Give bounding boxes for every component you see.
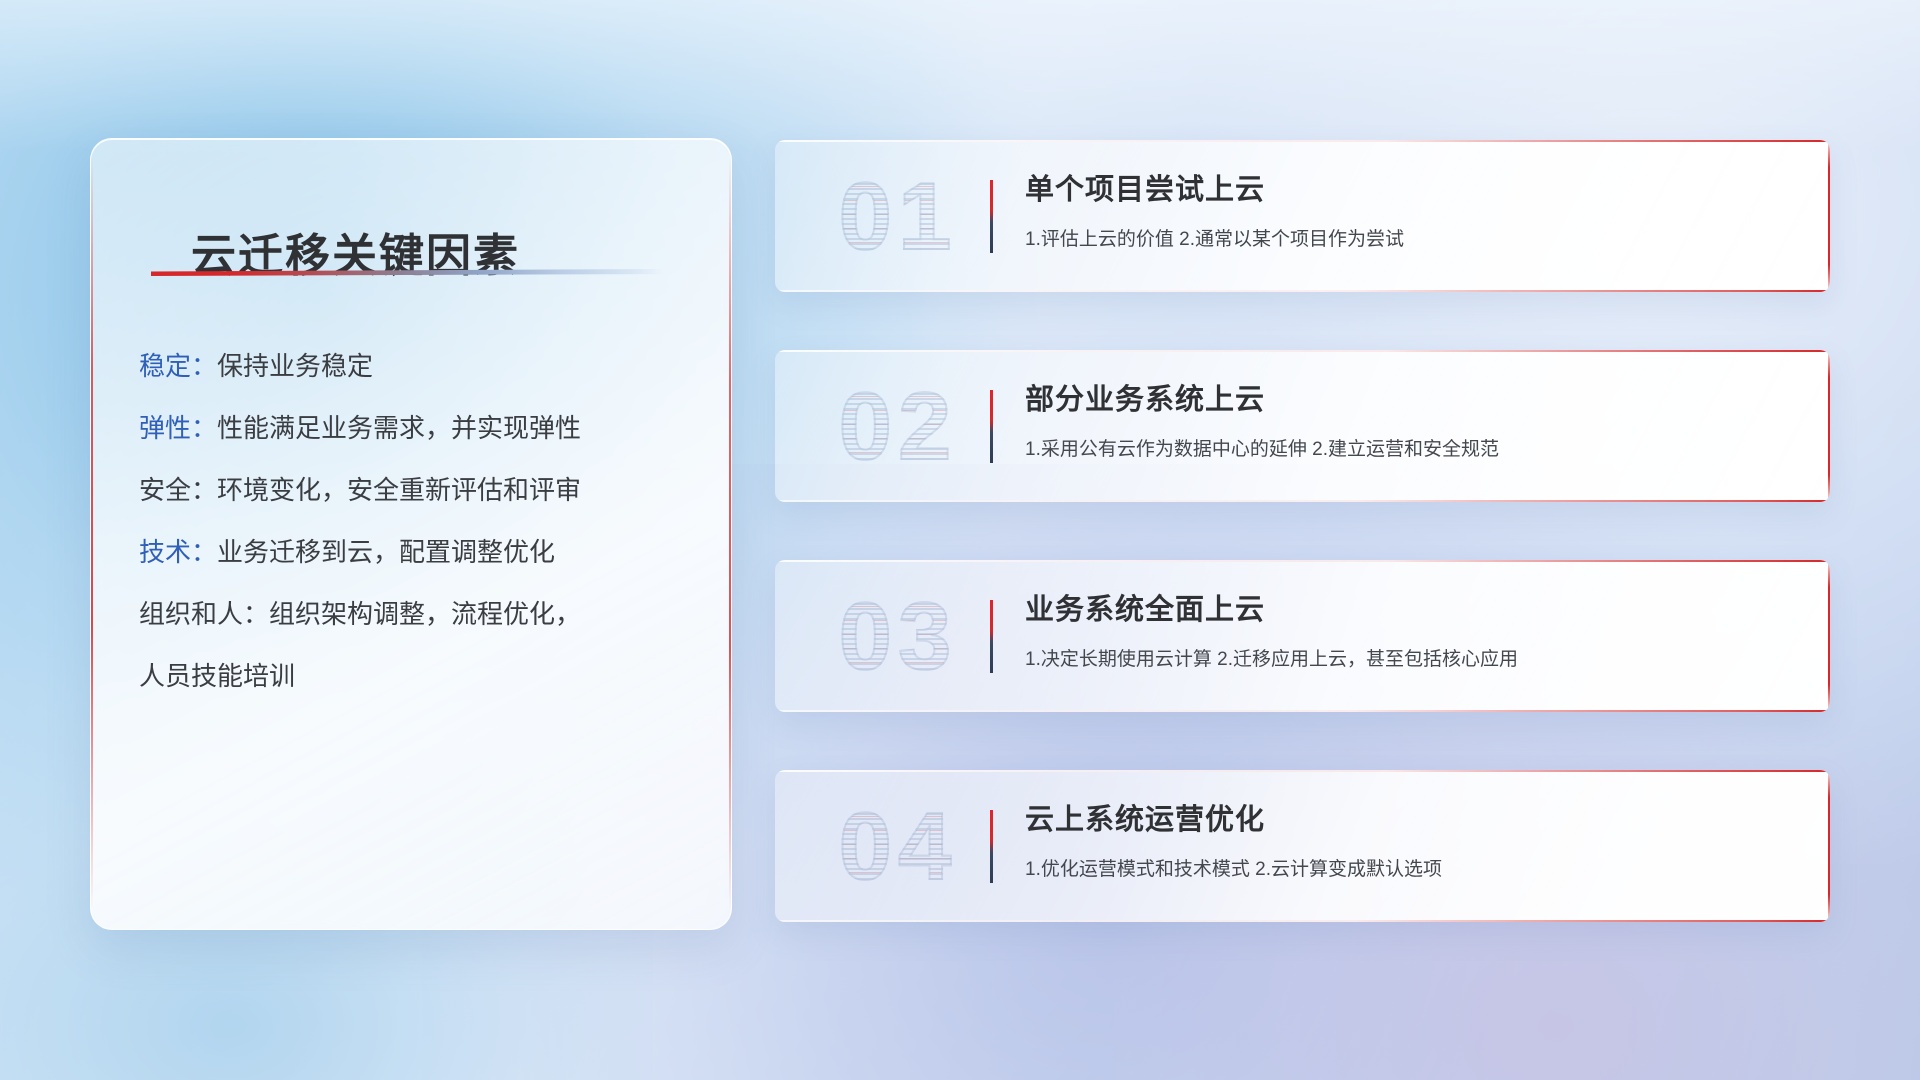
- factor-text: 组织架构调整，流程优化，: [269, 583, 581, 645]
- key-factors-card: 云迁移关键因素 稳定：保持业务稳定弹性：性能满足业务需求，并实现弹性安全：环境变…: [90, 138, 732, 930]
- step-body: 单个项目尝试上云1.评估上云的价值 2.通常以某个项目作为尝试: [1025, 166, 1790, 251]
- card-bottom-edge: [775, 290, 1830, 292]
- card-top-edge: [775, 560, 1830, 562]
- factor-list: 稳定：保持业务稳定弹性：性能满足业务需求，并实现弹性安全：环境变化，安全重新评估…: [139, 335, 701, 707]
- factor-row: 组织和人：组织架构调整，流程优化，: [139, 583, 701, 645]
- step-list: 0101单个项目尝试上云1.评估上云的价值 2.通常以某个项目作为尝试0202部…: [775, 140, 1830, 980]
- step-number: 04: [803, 788, 993, 906]
- step-card-04[interactable]: 0404云上系统运营优化1.优化运营模式和技术模式 2.云计算变成默认选项: [775, 770, 1830, 922]
- card-top-edge: [775, 140, 1830, 142]
- step-body: 业务系统全面上云1.决定长期使用云计算 2.迁移应用上云，甚至包括核心应用: [1025, 586, 1790, 671]
- step-number: 01: [803, 158, 993, 276]
- factor-label: 技术：: [139, 521, 217, 583]
- step-title: 单个项目尝试上云: [1025, 166, 1790, 208]
- step-divider-bar: [990, 180, 993, 253]
- step-number: 03: [803, 578, 993, 696]
- slide-stage: 云迁移关键因素 稳定：保持业务稳定弹性：性能满足业务需求，并实现弹性安全：环境变…: [0, 0, 1920, 1080]
- card-bottom-edge: [775, 920, 1830, 922]
- factor-text: 人员技能培训: [139, 645, 295, 707]
- card-top-edge: [775, 770, 1830, 772]
- step-card-02[interactable]: 0202部分业务系统上云1.采用公有云作为数据中心的延伸 2.建立运营和安全规范: [775, 350, 1830, 502]
- factor-row: 安全：环境变化，安全重新评估和评审: [139, 459, 701, 521]
- factor-row: 稳定：保持业务稳定: [139, 335, 701, 397]
- step-title: 部分业务系统上云: [1025, 376, 1790, 418]
- step-number: 02: [803, 368, 993, 486]
- card-bottom-edge: [775, 500, 1830, 502]
- step-description: 1.优化运营模式和技术模式 2.云计算变成默认选项: [1025, 854, 1790, 881]
- card-bottom-edge: [775, 710, 1830, 712]
- factor-text: 性能满足业务需求，并实现弹性: [217, 397, 581, 459]
- step-divider-bar: [990, 390, 993, 463]
- step-body: 部分业务系统上云1.采用公有云作为数据中心的延伸 2.建立运营和安全规范: [1025, 376, 1790, 461]
- factor-text: 环境变化，安全重新评估和评审: [217, 459, 581, 521]
- factor-text: 业务迁移到云，配置调整优化: [217, 521, 555, 583]
- factor-row: 人员技能培训: [139, 645, 701, 707]
- step-card-03[interactable]: 0303业务系统全面上云1.决定长期使用云计算 2.迁移应用上云，甚至包括核心应…: [775, 560, 1830, 712]
- step-description: 1.决定长期使用云计算 2.迁移应用上云，甚至包括核心应用: [1025, 644, 1790, 671]
- card-top-edge: [775, 350, 1830, 352]
- step-card-01[interactable]: 0101单个项目尝试上云1.评估上云的价值 2.通常以某个项目作为尝试: [775, 140, 1830, 292]
- factor-row: 技术：业务迁移到云，配置调整优化: [139, 521, 701, 583]
- factor-label: 安全：: [139, 459, 217, 521]
- step-title: 云上系统运营优化: [1025, 796, 1790, 838]
- factor-label: 稳定：: [139, 335, 217, 397]
- factor-text: 保持业务稳定: [217, 335, 373, 397]
- step-description: 1.评估上云的价值 2.通常以某个项目作为尝试: [1025, 224, 1790, 251]
- step-divider-bar: [990, 810, 993, 883]
- step-body: 云上系统运营优化1.优化运营模式和技术模式 2.云计算变成默认选项: [1025, 796, 1790, 881]
- factor-label: 组织和人：: [139, 583, 269, 645]
- factor-label: 弹性：: [139, 397, 217, 459]
- step-title: 业务系统全面上云: [1025, 586, 1790, 628]
- factor-row: 弹性：性能满足业务需求，并实现弹性: [139, 397, 701, 459]
- step-description: 1.采用公有云作为数据中心的延伸 2.建立运营和安全规范: [1025, 434, 1790, 461]
- step-divider-bar: [990, 600, 993, 673]
